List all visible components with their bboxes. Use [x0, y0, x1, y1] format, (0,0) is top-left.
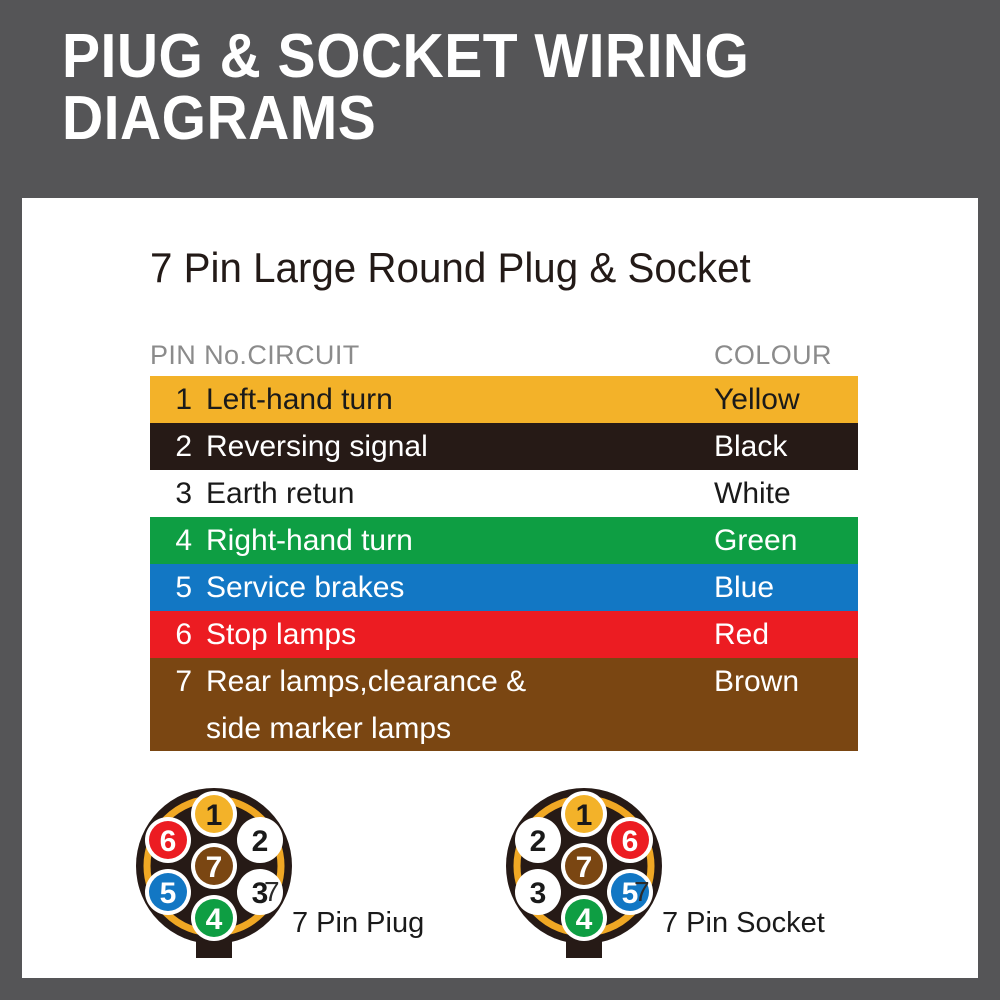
row-colour-label: Yellow	[714, 376, 800, 423]
row-pin-number: 7	[158, 658, 192, 705]
row-colour-label: Brown	[714, 658, 799, 705]
section-subtitle: 7 Pin Large Round Plug & Socket	[150, 244, 751, 292]
connector-diagrams: 1234567 7 7 Pin Piug 1234567 7 7 Pin Soc…	[22, 784, 978, 974]
row-circuit-label: Stop lamps	[206, 611, 356, 658]
svg-text:6: 6	[622, 825, 639, 858]
svg-text:6: 6	[160, 825, 177, 858]
table-row: 6Stop lampsRed	[150, 611, 858, 658]
table-row: 7Rear lamps,clearance & side marker lamp…	[150, 658, 858, 751]
poster-title-line-1: PIUG & SOCKET WIRING	[62, 26, 761, 88]
socket-diagram: 1234567 7 7 Pin Socket	[502, 784, 832, 974]
svg-text:4: 4	[206, 903, 223, 936]
row-circuit-label: Right-hand turn	[206, 517, 413, 564]
column-header-colour: COLOUR	[714, 340, 832, 370]
wiring-table: PIN No.CIRCUIT COLOUR 1Left-hand turnYel…	[150, 340, 858, 751]
poster-title: PIUG & SOCKET WIRING DIAGRAMS	[62, 26, 822, 150]
row-pin-number: 1	[158, 376, 192, 423]
row-circuit-label: Left-hand turn	[206, 376, 393, 423]
table-row: 3Earth retunWhite	[150, 470, 858, 517]
svg-text:2: 2	[252, 825, 269, 858]
row-colour-label: Black	[714, 423, 787, 470]
svg-text:4: 4	[576, 903, 593, 936]
svg-text:5: 5	[160, 877, 177, 910]
svg-text:1: 1	[576, 799, 593, 832]
svg-text:7: 7	[576, 851, 593, 884]
table-row: 5Service brakesBlue	[150, 564, 858, 611]
table-row: 4Right-hand turnGreen	[150, 517, 858, 564]
plug-connector-icon: 1234567	[132, 784, 322, 974]
table-body: 1Left-hand turnYellow2Reversing signalBl…	[150, 376, 858, 751]
row-circuit-label: Service brakes	[206, 564, 404, 611]
row-circuit-label: Earth retun	[206, 470, 354, 517]
row-pin-number: 3	[158, 470, 192, 517]
content-card: 7 Pin Large Round Plug & Socket PIN No.C…	[22, 198, 978, 978]
socket-connector-icon: 1234567	[502, 784, 692, 974]
column-header-pin-circuit: PIN No.CIRCUIT	[150, 340, 360, 370]
table-row: 2Reversing signalBlack	[150, 423, 858, 470]
row-pin-number: 6	[158, 611, 192, 658]
table-row: 1Left-hand turnYellow	[150, 376, 858, 423]
row-circuit-label: Rear lamps,clearance & side marker lamps	[206, 658, 526, 752]
row-colour-label: Green	[714, 517, 797, 564]
row-pin-number: 5	[158, 564, 192, 611]
svg-text:2: 2	[530, 825, 547, 858]
row-colour-label: Red	[714, 611, 769, 658]
svg-text:3: 3	[530, 877, 547, 910]
svg-text:1: 1	[206, 799, 223, 832]
plug-diagram: 1234567 7 7 Pin Piug	[132, 784, 462, 974]
row-pin-number: 2	[158, 423, 192, 470]
row-colour-label: White	[714, 470, 791, 517]
socket-caption: 7 Pin Socket	[662, 906, 825, 940]
row-circuit-label: Reversing signal	[206, 423, 428, 470]
row-colour-label: Blue	[714, 564, 774, 611]
row-pin-number: 4	[158, 517, 192, 564]
poster-root: PIUG & SOCKET WIRING DIAGRAMS 7 Pin Larg…	[0, 0, 1000, 1000]
plug-caption: 7 Pin Piug	[292, 906, 424, 940]
poster-title-line-2: DIAGRAMS	[62, 88, 761, 150]
plug-corner-label: 7	[264, 876, 280, 908]
svg-text:7: 7	[206, 851, 223, 884]
socket-corner-label: 7	[634, 876, 650, 908]
table-header-row: PIN No.CIRCUIT COLOUR	[150, 340, 858, 376]
